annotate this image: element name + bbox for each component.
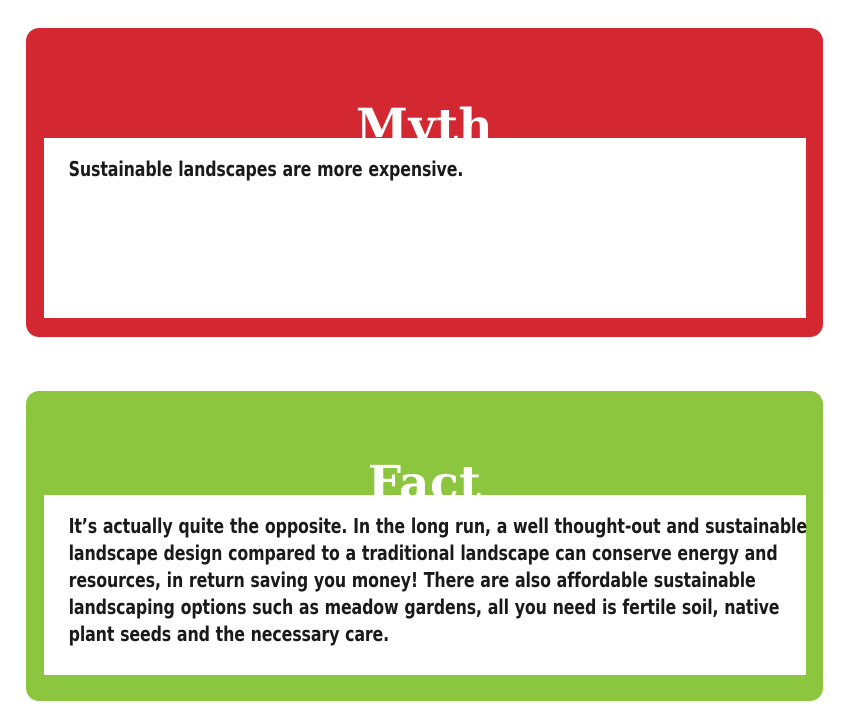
- myth-fact-board: Myth Sustainable landscapes are more exp…: [0, 0, 850, 727]
- myth-card-body: Sustainable landscapes are more expensiv…: [44, 138, 849, 183]
- fact-card-panel: It’s actually quite the opposite. In the…: [44, 495, 806, 675]
- myth-card-panel: Sustainable landscapes are more expensiv…: [44, 138, 806, 318]
- fact-card: Fact It’s actually quite the opposite. I…: [26, 391, 823, 701]
- myth-card: Myth Sustainable landscapes are more exp…: [26, 28, 823, 337]
- fact-card-body: It’s actually quite the opposite. In the…: [44, 495, 849, 648]
